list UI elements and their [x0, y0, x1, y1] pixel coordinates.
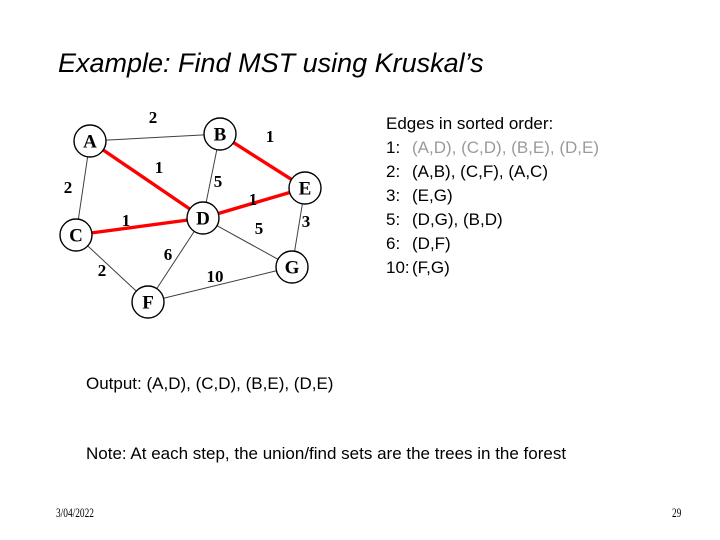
- edge-weight-d-f: 6: [164, 245, 173, 264]
- graph-edge-d-g: [217, 226, 278, 260]
- output-line: Output: (A,D), (C,D), (B,E), (D,E): [86, 374, 333, 394]
- graph-node-layer: ABCDEFG: [60, 118, 321, 318]
- sorted-edge-weight: 10:: [386, 258, 412, 278]
- edge-weight-b-d: 5: [214, 172, 223, 191]
- sorted-edge-row: 10:(F,G): [386, 258, 706, 278]
- graph-edge-a-b: [106, 135, 204, 140]
- footer-date: 3/04/2022: [56, 505, 94, 521]
- edge-weight-a-d: 1: [155, 158, 164, 177]
- graph-node-label-d: D: [196, 209, 210, 230]
- sorted-edge-weight: 2:: [386, 162, 412, 182]
- sorted-edge-list-heading: Edges in sorted order:: [386, 114, 706, 134]
- edge-weight-d-g: 5: [255, 219, 264, 238]
- graph-edge-c-d: [92, 220, 187, 233]
- graph-svg: ABCDEFG 2215112165310: [55, 108, 355, 333]
- sorted-edge-pairs: (D,F): [412, 234, 451, 254]
- graph-edge-c-f: [88, 246, 137, 291]
- sorted-edge-rows: 1:(A,D), (C,D), (B,E), (D,E)2:(A,B), (C,…: [386, 138, 706, 278]
- edge-weight-c-f: 2: [98, 261, 107, 280]
- graph-node-label-f: F: [142, 293, 154, 314]
- edge-weight-b-e: 1: [266, 127, 275, 146]
- edge-weight-a-c: 2: [64, 178, 73, 197]
- sorted-edge-weight: 6:: [386, 234, 412, 254]
- sorted-edge-row: 1:(A,D), (C,D), (B,E), (D,E): [386, 138, 706, 158]
- graph-edge-d-f: [157, 231, 194, 288]
- edge-weight-d-e: 1: [249, 190, 258, 209]
- sorted-edge-row: 2:(A,B), (C,F), (A,C): [386, 162, 706, 182]
- graph-edge-a-d: [103, 150, 190, 209]
- graph-node-label-a: A: [83, 132, 97, 153]
- sorted-edge-weight: 5:: [386, 210, 412, 230]
- page-title: Example: Find MST using Kruskal’s: [58, 48, 678, 79]
- graph-edge-a-c: [78, 157, 87, 219]
- sorted-edge-row: 3:(E,G): [386, 186, 706, 206]
- sorted-edge-row: 6:(D,F): [386, 234, 706, 254]
- edge-weight-f-g: 10: [207, 267, 224, 286]
- note-line: Note: At each step, the union/find sets …: [86, 444, 566, 464]
- edge-weight-e-g: 3: [302, 212, 311, 231]
- footer-page-number: 29: [672, 505, 681, 521]
- sorted-edge-pairs: (F,G): [412, 258, 450, 278]
- sorted-edge-pairs: (A,B), (C,F), (A,C): [412, 162, 548, 182]
- graph-diagram: ABCDEFG 2215112165310: [55, 108, 355, 333]
- sorted-edge-weight: 3:: [386, 186, 412, 206]
- sorted-edge-pairs: (E,G): [412, 186, 453, 206]
- sorted-edge-weight: 1:: [386, 138, 412, 158]
- graph-edge-b-e: [234, 143, 292, 180]
- sorted-edge-pairs: (D,G), (B,D): [412, 210, 503, 230]
- graph-node-label-c: C: [69, 226, 83, 247]
- graph-node-label-b: B: [214, 125, 227, 146]
- edge-weight-a-b: 2: [149, 108, 158, 127]
- sorted-edge-list: Edges in sorted order: 1:(A,D), (C,D), (…: [386, 114, 706, 282]
- graph-node-label-e: E: [299, 179, 312, 200]
- slide-canvas: Example: Find MST using Kruskal’s ABCDEF…: [0, 0, 720, 540]
- sorted-edge-row: 5:(D,G), (B,D): [386, 210, 706, 230]
- sorted-edge-pairs: (A,D), (C,D), (B,E), (D,E): [412, 138, 599, 158]
- edge-weight-c-d: 1: [122, 211, 131, 230]
- graph-node-label-g: G: [285, 258, 300, 279]
